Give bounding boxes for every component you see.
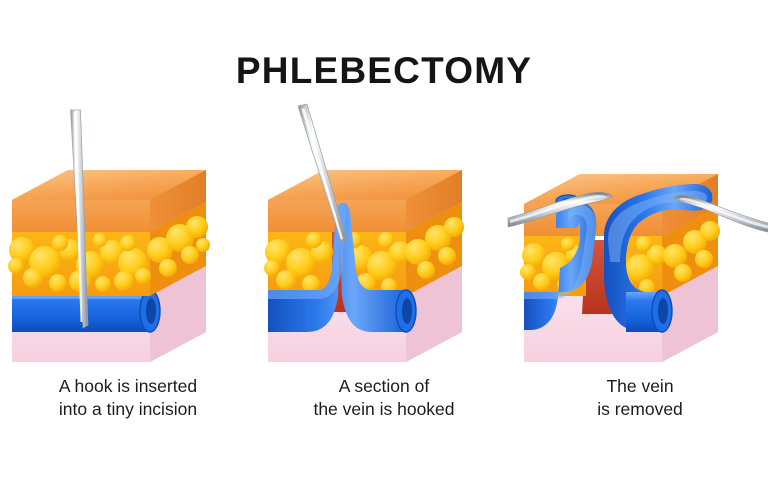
- caption-step-2: A section of the vein is hooked: [256, 375, 512, 421]
- caption-step-3-line-2: is removed: [512, 398, 768, 421]
- caption-step-3-line-1: The vein: [512, 375, 768, 398]
- phlebectomy-figure: PHLEBECTOMY: [0, 0, 768, 481]
- caption-step-3: The vein is removed: [512, 375, 768, 421]
- caption-step-1: A hook is inserted into a tiny incision: [0, 375, 256, 421]
- caption-step-2-line-2: the vein is hooked: [256, 398, 512, 421]
- caption-step-1-line-2: into a tiny incision: [0, 398, 256, 421]
- panel-step-1: [0, 100, 256, 360]
- page-title: PHLEBECTOMY: [0, 50, 768, 92]
- panel-step-2: [256, 100, 512, 360]
- caption-step-2-line-1: A section of: [256, 375, 512, 398]
- panel-step-3: [512, 100, 768, 360]
- caption-step-1-line-1: A hook is inserted: [0, 375, 256, 398]
